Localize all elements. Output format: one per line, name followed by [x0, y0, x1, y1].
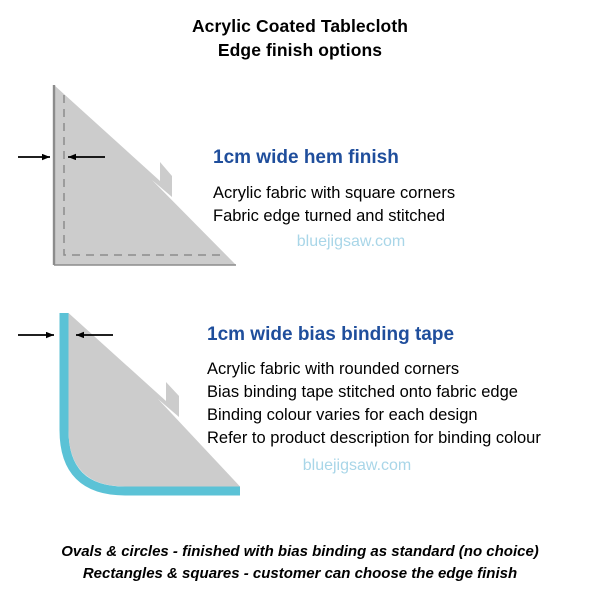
section-hem-body-line-1: Acrylic fabric with square corners: [213, 182, 489, 205]
section-bias-binding-body-line-1: Acrylic fabric with rounded corners: [207, 358, 541, 381]
section-bias-binding-body: Acrylic fabric with rounded corners Bias…: [207, 358, 541, 450]
hem-stitch-line: [64, 95, 226, 255]
footer-note: Ovals & circles - finished with bias bin…: [0, 541, 600, 585]
section-bias-binding-body-line-4: Refer to product description for binding…: [207, 427, 541, 450]
square-corner-fabric-diagram: [18, 85, 236, 265]
page-title-line-2: Edge finish options: [0, 38, 600, 62]
footer-line-2: Rectangles & squares - customer can choo…: [0, 563, 600, 585]
section-hem-body-line-2: Fabric edge turned and stitched: [213, 205, 489, 228]
footer-line-1: Ovals & circles - finished with bias bin…: [0, 541, 600, 563]
page-title-line-1: Acrylic Coated Tablecloth: [0, 14, 600, 38]
page-title: Acrylic Coated Tablecloth Edge finish op…: [0, 14, 600, 62]
section-bias-binding-body-line-3: Binding colour varies for each design: [207, 404, 541, 427]
watermark-hem: bluejigsaw.com: [213, 230, 489, 253]
section-hem-heading: 1cm wide hem finish: [213, 145, 489, 171]
section-bias-binding: 1cm wide bias binding tape Acrylic fabri…: [207, 322, 541, 477]
section-hem-finish: 1cm wide hem finish Acrylic fabric with …: [213, 145, 489, 253]
section-hem-body: Acrylic fabric with square corners Fabri…: [213, 182, 489, 228]
section-bias-binding-heading: 1cm wide bias binding tape: [207, 322, 541, 348]
watermark-bias-binding: bluejigsaw.com: [207, 454, 507, 477]
diagram-page: Acrylic Coated Tablecloth Edge finish op…: [0, 0, 600, 600]
section-bias-binding-body-line-2: Bias binding tape stitched onto fabric e…: [207, 381, 541, 404]
fabric-body-square-corner: [54, 85, 236, 265]
diagrams-layer: [0, 0, 600, 600]
